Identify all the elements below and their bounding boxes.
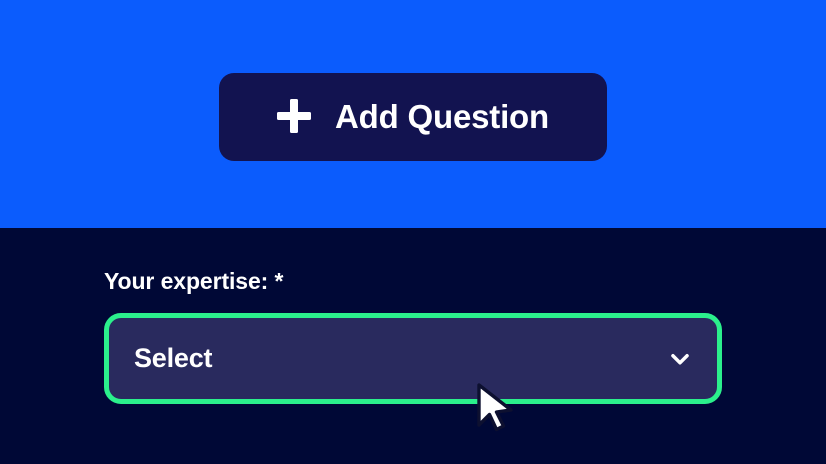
expertise-field-label: Your expertise: * — [104, 268, 283, 296]
expertise-select-value: Select — [134, 345, 212, 372]
add-question-button[interactable]: Add Question — [219, 73, 607, 161]
chevron-down-icon[interactable] — [667, 346, 693, 372]
app-screen: Add Question Your expertise: * Select — [0, 0, 826, 464]
add-question-button-label: Add Question — [335, 100, 549, 133]
expertise-select[interactable]: Select — [104, 313, 722, 404]
plus-icon — [277, 99, 311, 133]
